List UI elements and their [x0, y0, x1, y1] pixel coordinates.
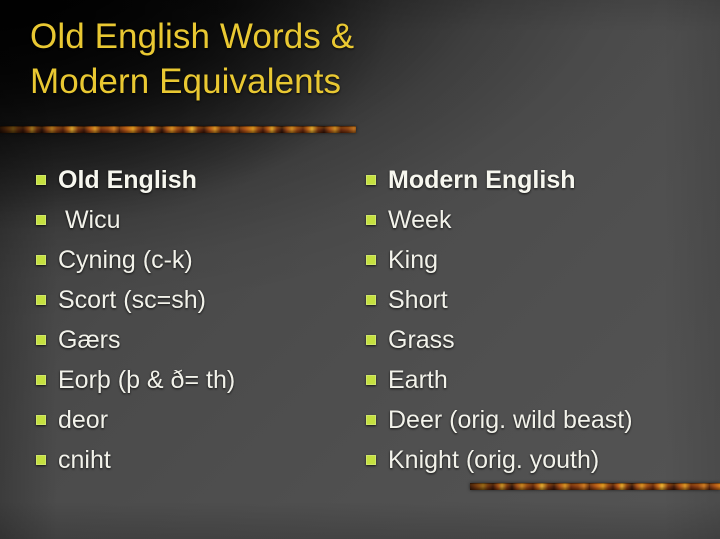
list-item-label: Short	[388, 286, 448, 314]
bottom-accent-rule	[470, 483, 720, 490]
square-bullet-icon	[366, 175, 376, 185]
square-bullet-icon	[36, 175, 46, 185]
list-item-label: Eorþ (þ & ð= th)	[58, 366, 235, 394]
square-bullet-icon	[36, 455, 46, 465]
square-bullet-icon	[36, 295, 46, 305]
square-bullet-icon	[366, 335, 376, 345]
list-item: Cyning (c-k)	[36, 240, 356, 280]
square-bullet-icon	[36, 255, 46, 265]
list-item: Modern English	[366, 160, 706, 200]
list-item-label: cniht	[58, 446, 111, 474]
list-item-label: Scort (sc=sh)	[58, 286, 206, 314]
modern-english-column: Modern EnglishWeekKingShortGrassEarthDee…	[366, 160, 706, 480]
list-item-label: Gærs	[58, 326, 121, 354]
list-item: Week	[366, 200, 706, 240]
list-item: Short	[366, 280, 706, 320]
list-item-label: King	[388, 246, 438, 274]
presentation-slide: Old English Words & Modern Equivalents O…	[0, 0, 720, 539]
square-bullet-icon	[366, 375, 376, 385]
list-item-label: Knight (orig. youth)	[388, 446, 599, 474]
square-bullet-icon	[366, 455, 376, 465]
list-item: King	[366, 240, 706, 280]
list-item: Earth	[366, 360, 706, 400]
modern_english-heading: Modern English	[388, 166, 576, 194]
square-bullet-icon	[366, 415, 376, 425]
list-item-label: Wicu	[58, 206, 121, 234]
list-item: deor	[36, 400, 356, 440]
list-item-label: Cyning (c-k)	[58, 246, 193, 274]
square-bullet-icon	[36, 415, 46, 425]
old-english-column: Old English WicuCyning (c-k)Scort (sc=sh…	[36, 160, 356, 480]
list-item-label: deor	[58, 406, 108, 434]
list-item-label: Earth	[388, 366, 448, 394]
square-bullet-icon	[36, 335, 46, 345]
list-item-label: Grass	[388, 326, 455, 354]
square-bullet-icon	[366, 215, 376, 225]
square-bullet-icon	[36, 215, 46, 225]
top-accent-rule	[0, 126, 356, 133]
list-item: Knight (orig. youth)	[366, 440, 706, 480]
list-item: Wicu	[36, 200, 356, 240]
list-item: Grass	[366, 320, 706, 360]
square-bullet-icon	[36, 375, 46, 385]
square-bullet-icon	[366, 255, 376, 265]
list-item: Eorþ (þ & ð= th)	[36, 360, 356, 400]
list-item: cniht	[36, 440, 356, 480]
list-item-label: Deer (orig. wild beast)	[388, 406, 633, 434]
list-item: Scort (sc=sh)	[36, 280, 356, 320]
list-item: Deer (orig. wild beast)	[366, 400, 706, 440]
slide-title: Old English Words & Modern Equivalents	[30, 14, 590, 104]
list-item: Gærs	[36, 320, 356, 360]
list-item-label: Week	[388, 206, 451, 234]
square-bullet-icon	[366, 295, 376, 305]
list-item: Old English	[36, 160, 356, 200]
old_english-heading: Old English	[58, 166, 197, 194]
